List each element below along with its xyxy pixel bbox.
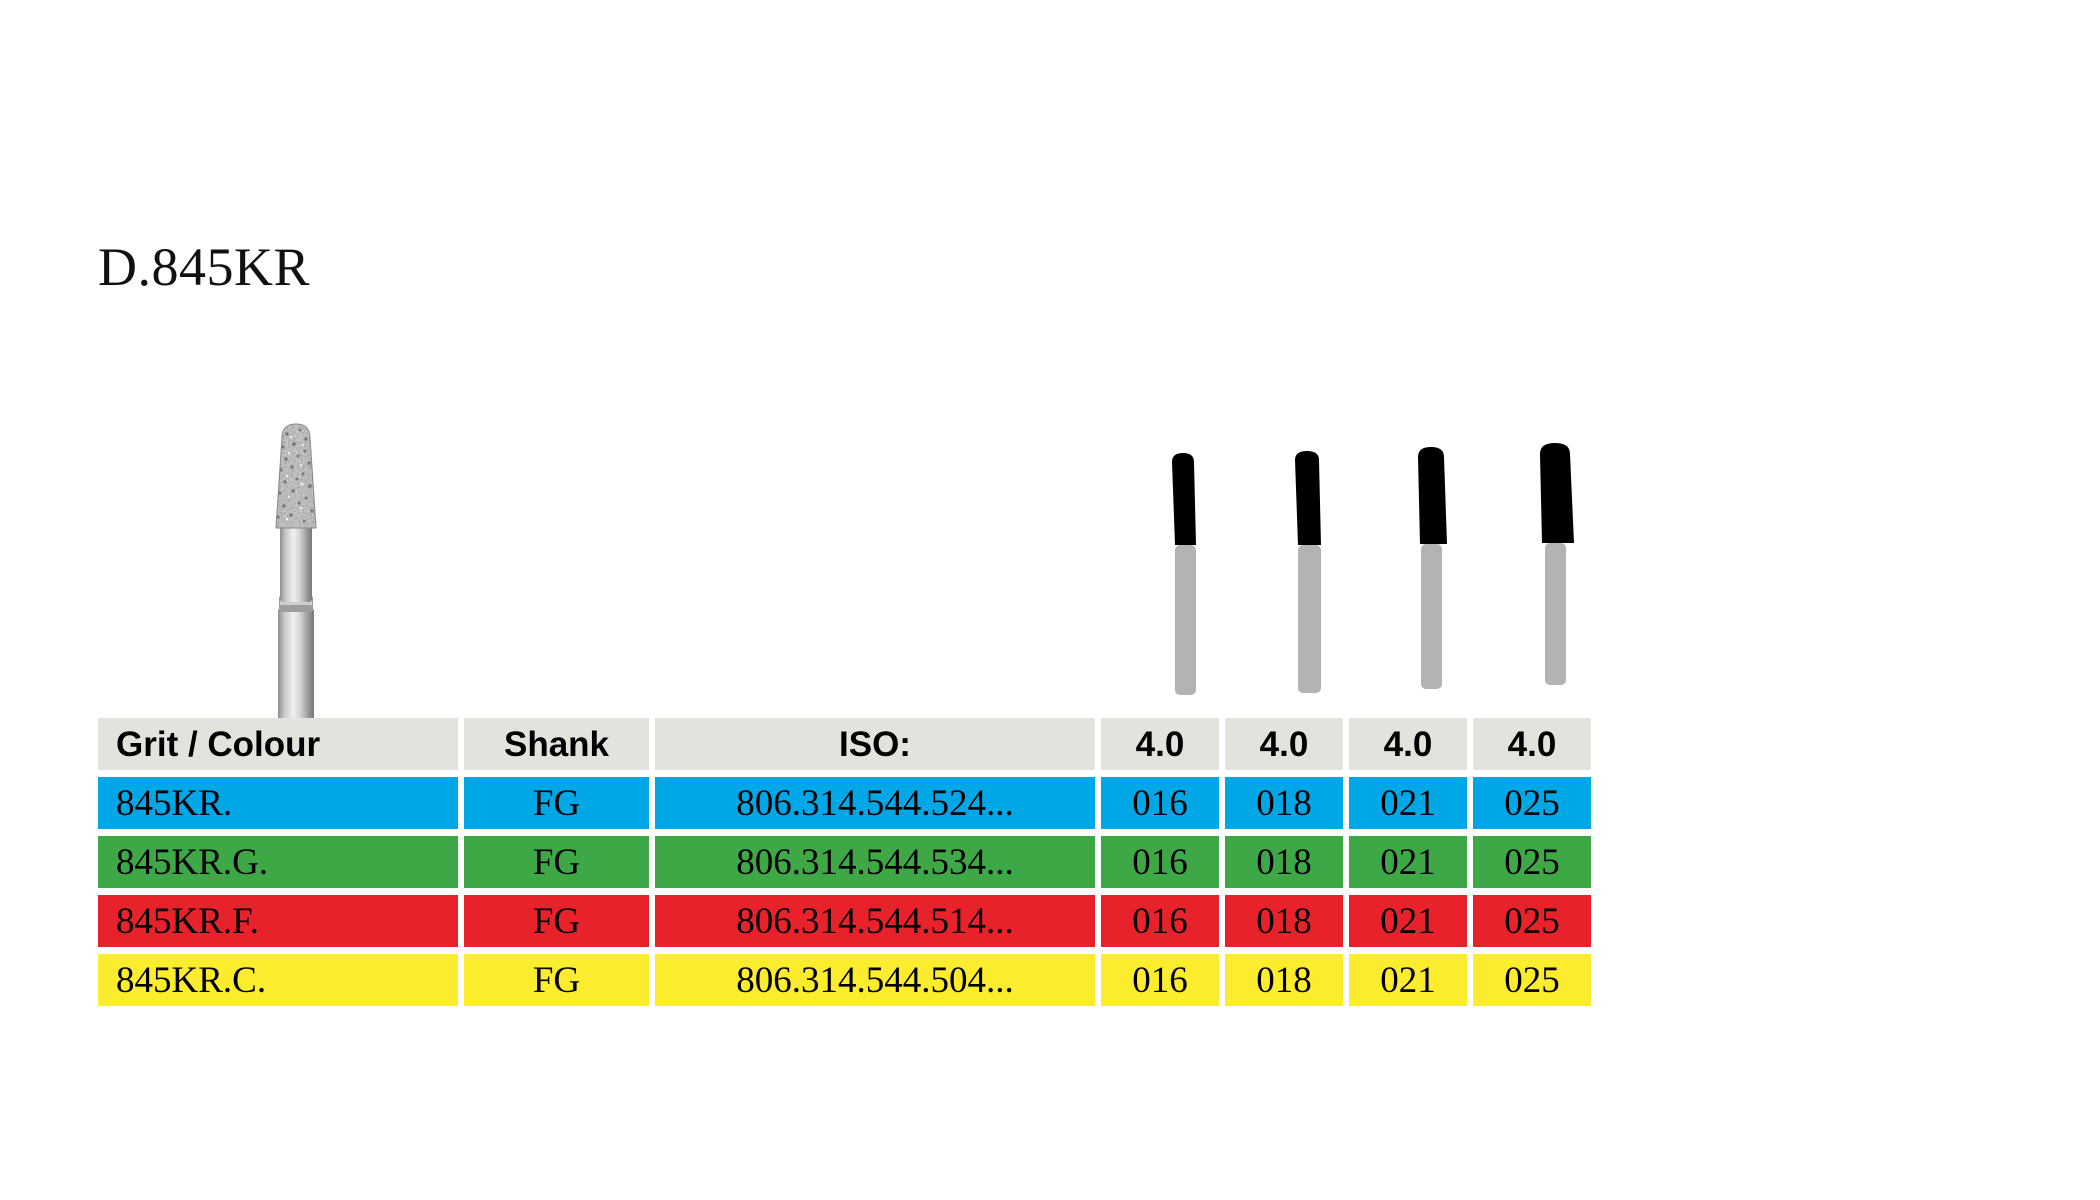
header-size-3: 4.0 — [1349, 718, 1467, 770]
cell-size-4: 025 — [1473, 954, 1591, 1006]
cell-shank: FG — [464, 954, 649, 1006]
cell-size-2: 018 — [1225, 954, 1343, 1006]
diamond-bur-large-illustration — [256, 420, 336, 740]
table-row[interactable]: 845KR.F. FG 806.314.544.514... 016 018 0… — [98, 895, 1618, 947]
product-spec-sheet: D.845KR — [0, 0, 2100, 1200]
cell-size-2: 018 — [1225, 836, 1343, 888]
cell-size-4: 025 — [1473, 777, 1591, 829]
cell-grit-colour: 845KR.G. — [98, 836, 458, 888]
cell-grit-colour: 845KR.C. — [98, 954, 458, 1006]
cell-size-1: 016 — [1101, 836, 1219, 888]
cell-size-2: 018 — [1225, 895, 1343, 947]
header-iso: ISO: — [655, 718, 1095, 770]
cell-shank: FG — [464, 895, 649, 947]
size-preview-bur-016 — [1148, 450, 1218, 700]
cell-size-4: 025 — [1473, 895, 1591, 947]
cell-iso: 806.314.544.524... — [655, 777, 1095, 829]
page-title: D.845KR — [98, 236, 310, 298]
cell-size-3: 021 — [1349, 895, 1467, 947]
table-row[interactable]: 845KR. FG 806.314.544.524... 016 018 021… — [98, 777, 1618, 829]
cell-size-1: 016 — [1101, 895, 1219, 947]
cell-size-2: 018 — [1225, 777, 1343, 829]
header-shank: Shank — [464, 718, 649, 770]
cell-size-3: 021 — [1349, 836, 1467, 888]
cell-size-1: 016 — [1101, 777, 1219, 829]
cell-shank: FG — [464, 836, 649, 888]
cell-iso: 806.314.544.504... — [655, 954, 1095, 1006]
size-preview-bur-025 — [1520, 440, 1590, 690]
table-row[interactable]: 845KR.G. FG 806.314.544.534... 016 018 0… — [98, 836, 1618, 888]
size-preview-bur-018 — [1272, 448, 1342, 698]
cell-grit-colour: 845KR.F. — [98, 895, 458, 947]
cell-iso: 806.314.544.534... — [655, 836, 1095, 888]
table-header-row: Grit / Colour Shank ISO: 4.0 4.0 4.0 4.0 — [98, 718, 1618, 770]
cell-iso: 806.314.544.514... — [655, 895, 1095, 947]
cell-size-3: 021 — [1349, 954, 1467, 1006]
specification-table: Grit / Colour Shank ISO: 4.0 4.0 4.0 4.0… — [98, 718, 1618, 1013]
table-row[interactable]: 845KR.C. FG 806.314.544.504... 016 018 0… — [98, 954, 1618, 1006]
header-size-2: 4.0 — [1225, 718, 1343, 770]
cell-size-3: 021 — [1349, 777, 1467, 829]
cell-size-4: 025 — [1473, 836, 1591, 888]
header-size-4: 4.0 — [1473, 718, 1591, 770]
cell-shank: FG — [464, 777, 649, 829]
header-grit-colour: Grit / Colour — [98, 718, 458, 770]
size-preview-bur-021 — [1396, 444, 1466, 694]
cell-size-1: 016 — [1101, 954, 1219, 1006]
header-size-1: 4.0 — [1101, 718, 1219, 770]
cell-grit-colour: 845KR. — [98, 777, 458, 829]
